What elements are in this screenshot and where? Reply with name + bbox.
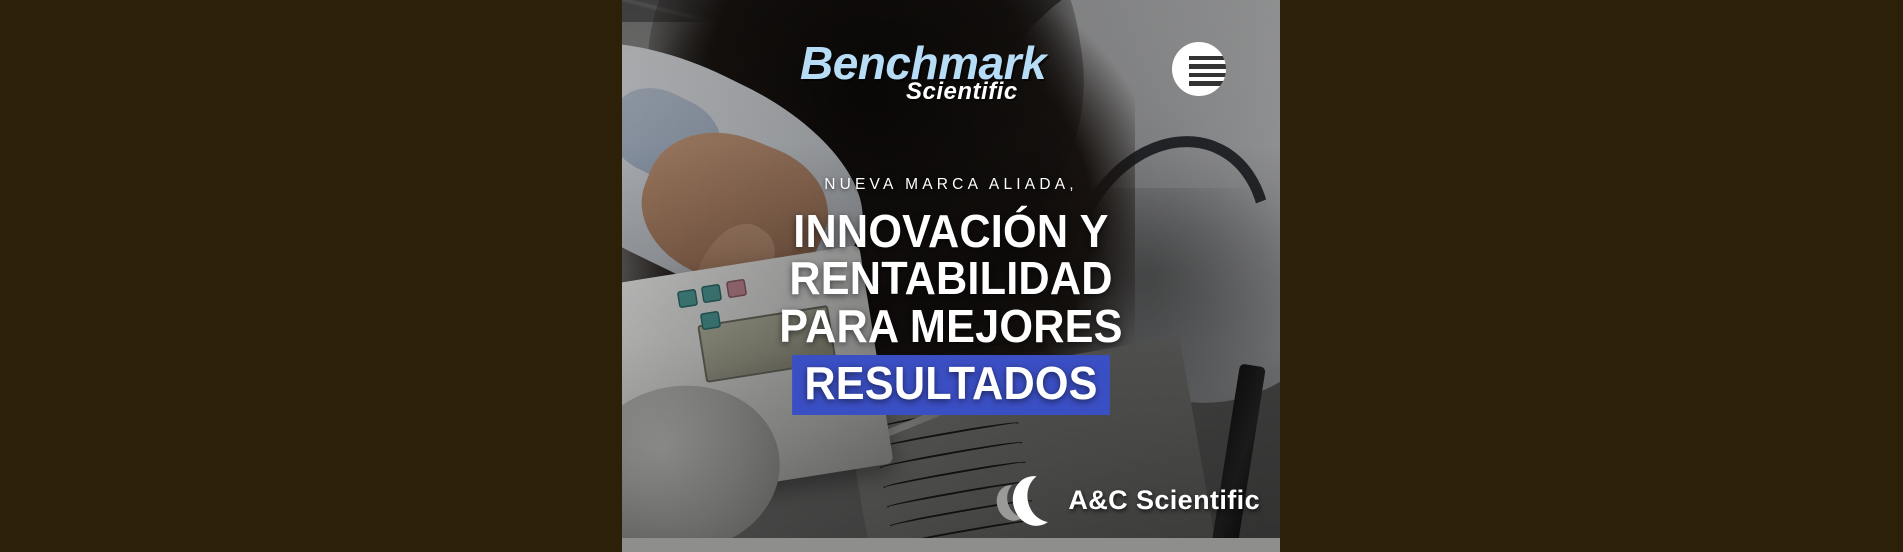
kicker-text: NUEVA MARCA ALIADA, [648,176,1254,194]
headline-block: NUEVA MARCA ALIADA, INNOVACIÓN Y RENTABI… [622,176,1280,415]
ac-scientific-wordmark: A&C Scientific [1068,485,1260,516]
headline-line-2: RENTABILIDAD [666,255,1236,302]
ac-scientific-logo[interactable]: A&C Scientific [997,472,1260,528]
bottom-strip [622,538,1280,552]
double-crescent-icon [997,472,1059,528]
banner-stage: Benchmark Scientific NUEVA MARCA ALIADA,… [0,0,1903,552]
headline-line-3: PARA MEJORES [666,303,1236,350]
promotional-banner[interactable]: Benchmark Scientific NUEVA MARCA ALIADA,… [622,0,1280,552]
headline-line-1: INNOVACIÓN Y [666,208,1236,255]
headline-highlight: RESULTADOS [792,355,1110,414]
benchmark-subwordmark: Scientific [906,78,1018,106]
striped-circle-icon [1172,42,1226,96]
benchmark-scientific-logo[interactable]: Benchmark Scientific [800,36,1230,110]
